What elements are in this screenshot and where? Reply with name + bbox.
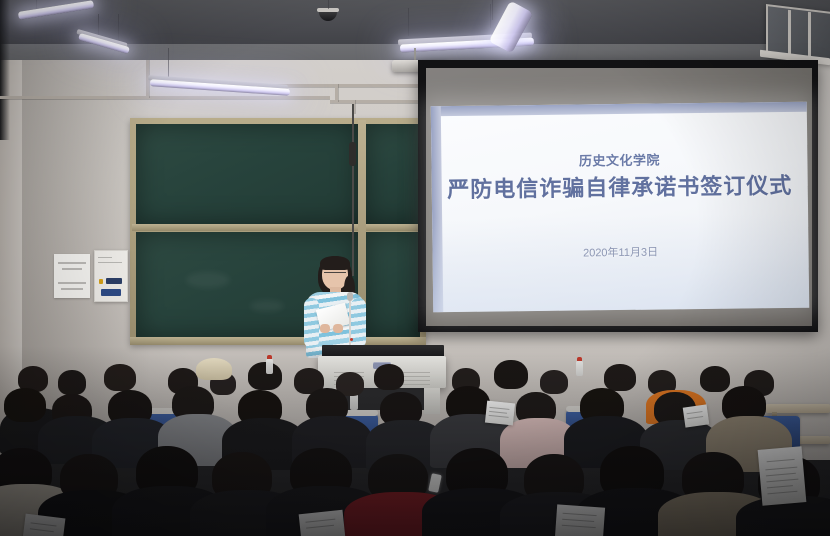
paper-text-line: [766, 473, 796, 477]
notice-text-line: [61, 288, 83, 290]
paper-text-line: [30, 528, 54, 532]
audience-head: [604, 364, 636, 391]
paper-text-line: [31, 522, 57, 526]
paper-text-line: [767, 491, 797, 495]
light-suspension-wire: [492, 0, 493, 20]
audience-head: [58, 370, 86, 395]
chalk-smudge: [186, 272, 230, 288]
paper-text-line: [765, 467, 797, 471]
presenter-left-arm: [304, 298, 319, 348]
audience-head: [494, 360, 528, 389]
paper-text-line: [687, 416, 703, 419]
handout-paper: [485, 401, 515, 426]
water-bottle-cap: [577, 357, 582, 361]
audience-head: [104, 364, 136, 391]
paper-text-line: [767, 485, 793, 488]
chalk-smudge: [250, 300, 284, 312]
light-suspension-wire: [168, 48, 169, 78]
beige-cap: [196, 358, 232, 380]
presenter-hair-top: [320, 256, 350, 270]
microphone-head: [347, 292, 353, 301]
audience-head: [248, 362, 282, 390]
presenter-hand-right: [333, 324, 343, 333]
audience-area: [0, 356, 830, 536]
slide-headline: 严防电信诈骗自律承诺书签订仪式: [432, 168, 808, 205]
paper-text-line: [489, 415, 509, 418]
paper-text-line: [306, 525, 334, 529]
paper-text-line: [489, 407, 509, 410]
notice-text-line: [58, 262, 86, 264]
handout-paper: [758, 446, 807, 506]
microphone-cable-connector: [349, 142, 356, 166]
paper-text-line: [687, 411, 703, 414]
microphone-cable: [352, 104, 354, 144]
notice-text-line: [58, 282, 86, 284]
handout-paper: [299, 510, 346, 536]
wall-control-panel[interactable]: [94, 250, 128, 302]
window-mullion: [788, 10, 791, 58]
audience-head: [540, 370, 568, 394]
paper-text-line: [489, 411, 507, 414]
slide-lower-glow: [432, 213, 809, 312]
projected-slide: 历史文化学院 严防电信诈骗自律承诺书签订仪式 2020年11月3日: [431, 102, 809, 313]
wall-conduit: [0, 96, 330, 99]
smartphone[interactable]: [428, 473, 442, 493]
presenter-glasses: [324, 272, 346, 277]
light-suspension-wire: [490, 4, 491, 28]
handout-paper: [683, 404, 710, 427]
notice-text-line: [62, 268, 82, 270]
water-bottle: [266, 358, 273, 374]
paper-text-line: [562, 525, 596, 528]
light-suspension-wire: [118, 14, 119, 42]
handout-paper: [23, 514, 66, 536]
blackboard-panel-lower-right: [366, 232, 420, 338]
water-bottle-cap: [267, 355, 272, 359]
blackboard-chalk-tray: [130, 337, 426, 345]
panel-indicator-amber: [99, 279, 103, 284]
water-bottle: [576, 360, 583, 376]
handout-paper: [555, 504, 605, 536]
presenter-right-arm: [351, 298, 366, 348]
panel-button-row[interactable]: [101, 289, 121, 296]
window-mullion: [808, 12, 811, 60]
audience-head: [4, 388, 46, 422]
light-suspension-wire: [408, 8, 409, 36]
microphone-indicator: [350, 338, 353, 341]
panel-display: [106, 278, 122, 284]
paper-text-line: [766, 479, 798, 483]
panel-label-line: [98, 262, 122, 263]
blackboard-panel-upper-left: [136, 124, 358, 224]
paper-text-line: [563, 513, 597, 516]
panel-label-line: [98, 257, 112, 258]
wall-conduit-drop: [335, 84, 338, 102]
left-dark-edge: [0, 0, 10, 140]
paper-text-line: [767, 459, 795, 462]
posted-notice: [54, 254, 90, 298]
classroom-photo-scene: 历史文化学院 严防电信诈骗自律承诺书签订仪式 2020年11月3日: [0, 0, 830, 536]
presenter-hand-left: [320, 324, 330, 333]
paper-text-line: [562, 519, 594, 522]
audience-head: [374, 364, 404, 390]
audience-head: [700, 366, 730, 392]
blackboard-center-rail: [132, 224, 424, 231]
blackboard-panel-upper-right: [366, 124, 420, 224]
camera-cable: [328, 0, 329, 9]
paper-text-line: [305, 519, 335, 523]
